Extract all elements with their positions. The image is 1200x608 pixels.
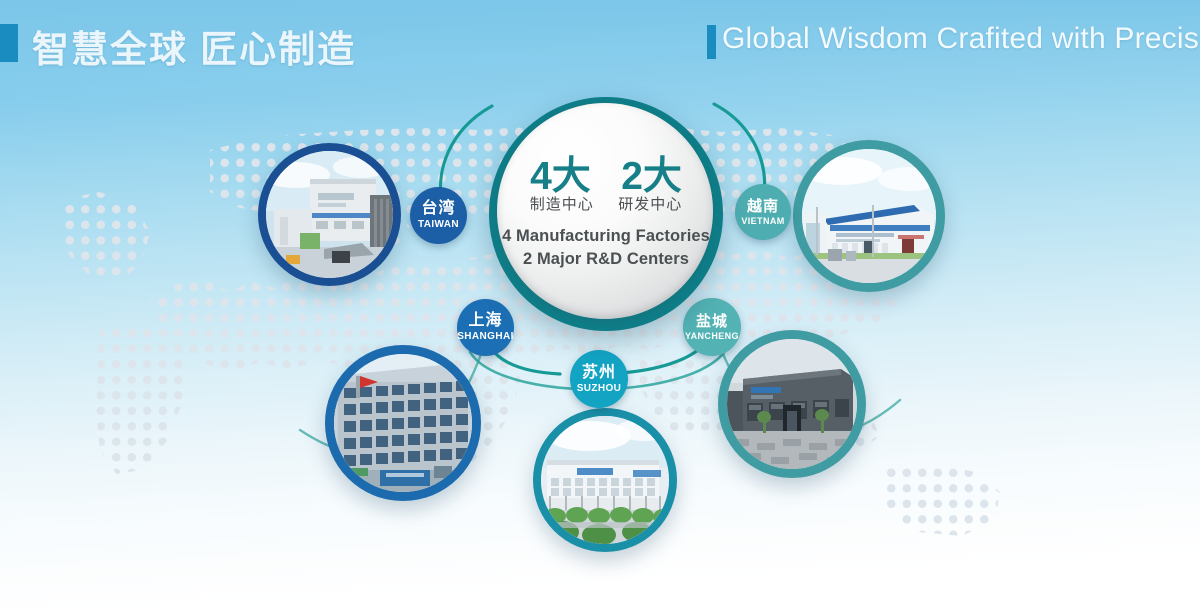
- header-accent-bar-right: [707, 25, 716, 59]
- photo-circle-shanghai[interactable]: [325, 345, 481, 501]
- badge-label-cn-taiwan: 台湾: [421, 201, 455, 217]
- banner-header: 智慧全球 匠心制造 Global Wisdom Crafited with Pr…: [0, 0, 1200, 86]
- photo-image-yancheng: [727, 339, 857, 469]
- stat-english-line-1: 4 Manufacturing Factories: [489, 225, 723, 248]
- badge-label-en-suzhou: SUZHOU: [577, 384, 622, 394]
- header-accent-bar-left: [0, 24, 18, 62]
- badge-label-cn-suzhou: 苏州: [582, 365, 616, 381]
- photo-circle-taiwan[interactable]: [258, 143, 401, 286]
- central-disc-content: 4大 2大 制造中心 研发中心 4 Manufacturing Factorie…: [489, 97, 723, 331]
- stat-english-line-2: 2 Major R&D Centers: [489, 248, 723, 271]
- badge-label-en-vietnam: VIETNAM: [741, 217, 784, 226]
- photo-image-shanghai: [334, 354, 472, 492]
- photo-circle-vietnam[interactable]: [793, 140, 945, 292]
- photo-image-taiwan: [266, 151, 393, 278]
- stat-label-rdcenters: 研发中心: [618, 193, 682, 214]
- photo-circle-yancheng[interactable]: [718, 330, 866, 478]
- banner-canvas: 智慧全球 匠心制造 Global Wisdom Crafited with Pr…: [0, 0, 1200, 608]
- badge-label-en-shanghai: SHANGHAI: [457, 332, 514, 342]
- badge-label-en-yancheng: YANCHENG: [685, 332, 739, 341]
- location-badge-taiwan[interactable]: 台湾 TAIWAN: [410, 187, 467, 244]
- page-title-cn: 智慧全球 匠心制造: [32, 19, 356, 73]
- badge-label-en-taiwan: TAIWAN: [418, 220, 459, 230]
- photo-image-suzhou: [541, 416, 669, 544]
- stat-english-lines: 4 Manufacturing Factories 2 Major R&D Ce…: [489, 225, 723, 271]
- photo-circle-suzhou[interactable]: [533, 408, 677, 552]
- page-title-en: Global Wisdom Crafited with Precision: [722, 22, 1200, 56]
- badge-label-cn-vietnam: 越南: [747, 199, 779, 214]
- photo-image-vietnam: [802, 149, 936, 283]
- location-badge-suzhou[interactable]: 苏州 SUZHOU: [570, 350, 628, 408]
- stat-label-factories: 制造中心: [530, 193, 594, 214]
- central-stats-disc[interactable]: 4大 2大 制造中心 研发中心 4 Manufacturing Factorie…: [489, 97, 723, 331]
- location-badge-vietnam[interactable]: 越南 VIETNAM: [735, 184, 791, 240]
- stat-labels-row: 制造中心 研发中心: [489, 193, 723, 214]
